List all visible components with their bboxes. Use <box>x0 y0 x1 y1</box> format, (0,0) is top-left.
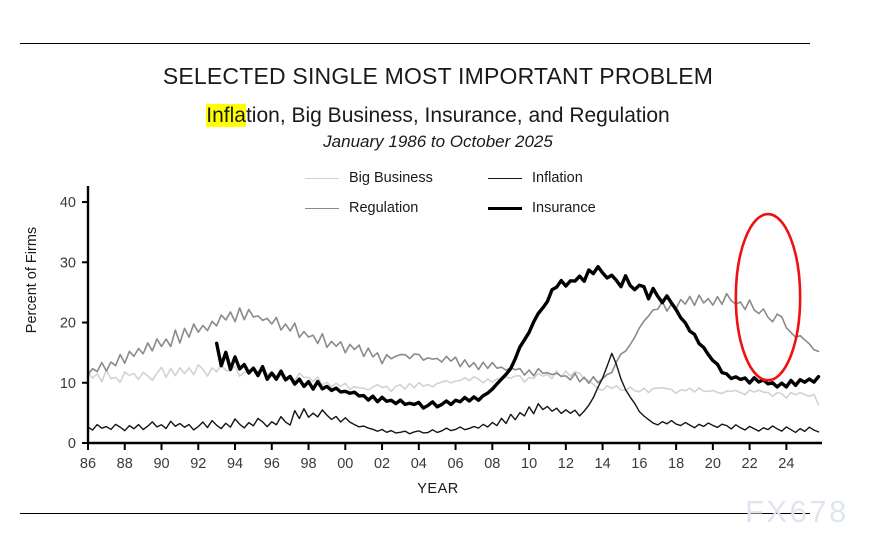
x-tick-label: 02 <box>374 456 390 472</box>
y-tick-label: 20 <box>60 316 76 332</box>
y-tick-label: 10 <box>60 376 76 392</box>
x-tick-label: 22 <box>742 456 758 472</box>
x-tick-label: 06 <box>447 456 463 472</box>
inflation-spike-highlight-annotation <box>736 214 800 380</box>
series-line-big-business <box>88 365 819 405</box>
x-tick-label: 12 <box>558 456 574 472</box>
x-tick-label: 00 <box>337 456 353 472</box>
x-tick-label: 90 <box>153 456 169 472</box>
x-tick-label: 94 <box>227 456 243 472</box>
x-tick-label: 96 <box>264 456 280 472</box>
x-tick-label: 16 <box>631 456 647 472</box>
x-tick-label: 86 <box>80 456 96 472</box>
x-tick-label: 10 <box>521 456 537 472</box>
y-tick-label: 30 <box>60 255 76 271</box>
x-tick-label: 04 <box>411 456 427 472</box>
plot-area: 0102030408688909294969800020406081012141… <box>0 0 876 556</box>
y-tick-label: 40 <box>60 195 76 211</box>
y-tick-label: 0 <box>68 436 76 452</box>
x-tick-label: 98 <box>300 456 316 472</box>
watermark-label: FX678 <box>745 494 849 530</box>
series-line-insurance <box>217 267 819 408</box>
x-tick-label: 92 <box>190 456 206 472</box>
x-tick-label: 08 <box>484 456 500 472</box>
x-tick-label: 24 <box>778 456 794 472</box>
chart-canvas: 0102030408688909294969800020406081012141… <box>0 0 876 556</box>
x-tick-label: 20 <box>705 456 721 472</box>
x-tick-label: 18 <box>668 456 684 472</box>
x-tick-label: 14 <box>595 456 611 472</box>
chart-page: SELECTED SINGLE MOST IMPORTANT PROBLEM I… <box>0 0 876 556</box>
bottom-divider-rule <box>20 513 810 514</box>
y-axis-label: Percent of Firms <box>24 220 40 340</box>
x-tick-label: 88 <box>117 456 133 472</box>
series-line-regulation <box>88 294 819 384</box>
